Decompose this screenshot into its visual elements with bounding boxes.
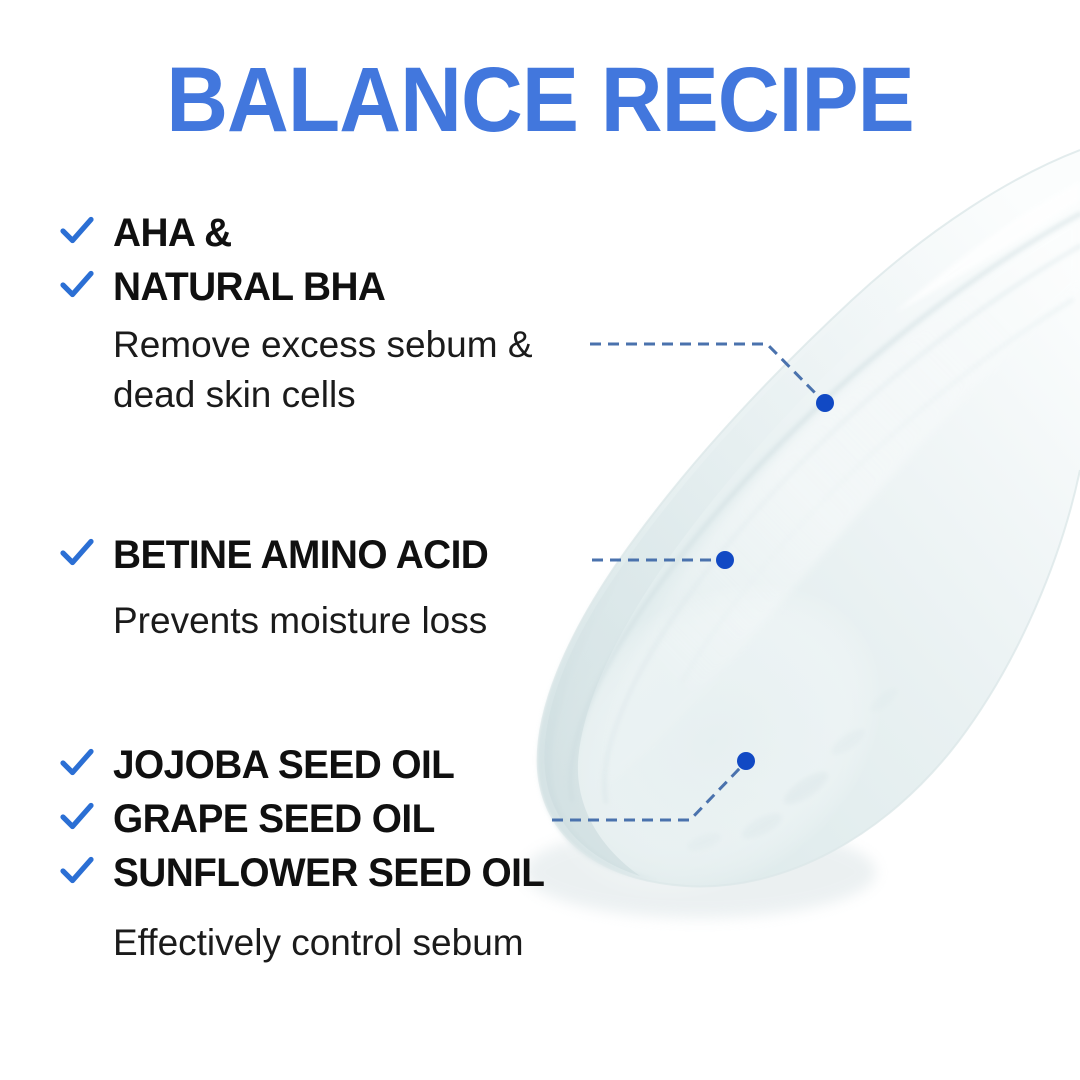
leader-seed-oils	[552, 752, 755, 820]
ingredient-name: BETINE AMINO ACID	[113, 528, 488, 582]
list-item: BETINE AMINO ACID	[58, 528, 500, 582]
ingredient-group-aha-bha: AHA & NATURAL BHA Remove excess sebum & …	[58, 206, 533, 420]
ingredient-group-betine-amino-acid: BETINE AMINO ACID Prevents moisture loss	[58, 528, 500, 646]
ingredient-group-seed-oils: JOJOBA SEED OIL GRAPE SEED OIL SUNFLOWER…	[58, 738, 558, 968]
leader-dot	[737, 752, 755, 770]
list-item: SUNFLOWER SEED OIL	[58, 846, 558, 900]
ingredient-name: SUNFLOWER SEED OIL	[113, 846, 544, 900]
list-item: NATURAL BHA	[58, 260, 533, 314]
leader-dot	[816, 394, 834, 412]
infographic-canvas: BALANCE RECIPE AHA & NATURAL BHA	[0, 0, 1080, 1080]
check-icon	[58, 744, 96, 782]
ingredient-name: JOJOBA SEED OIL	[113, 738, 454, 792]
ingredient-name: NATURAL BHA	[113, 260, 385, 314]
check-icon	[58, 266, 96, 304]
check-icon	[58, 852, 96, 890]
list-item: JOJOBA SEED OIL	[58, 738, 558, 792]
ingredient-description: Remove excess sebum & dead skin cells	[113, 320, 533, 420]
leader-aha-bha	[590, 344, 834, 412]
leader-dot	[716, 551, 734, 569]
ingredient-name: GRAPE SEED OIL	[113, 792, 435, 846]
ingredient-description: Effectively control sebum	[113, 918, 558, 968]
leader-betine	[592, 551, 734, 569]
list-item: GRAPE SEED OIL	[58, 792, 558, 846]
list-item: AHA &	[58, 206, 533, 260]
ingredient-name: AHA &	[113, 206, 232, 260]
check-icon	[58, 798, 96, 836]
ingredient-description: Prevents moisture loss	[113, 596, 500, 646]
check-icon	[58, 212, 96, 250]
check-icon	[58, 534, 96, 572]
